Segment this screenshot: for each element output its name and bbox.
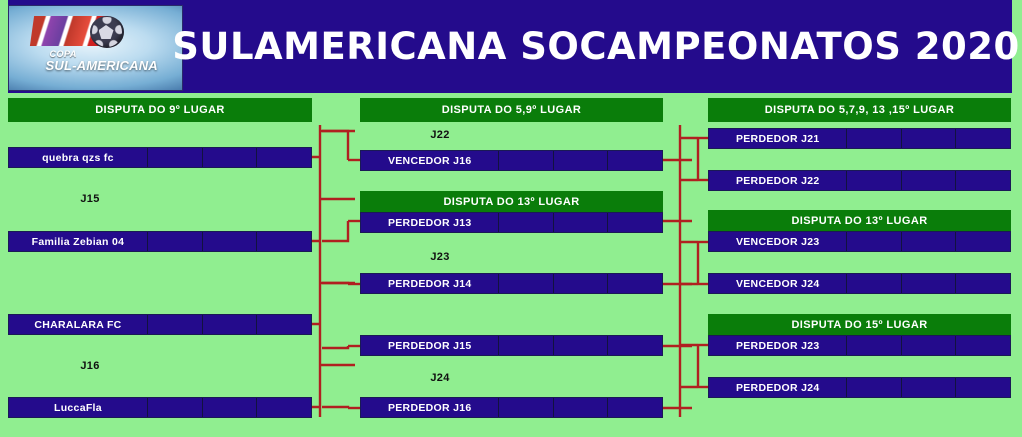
- slot-cell-1: [847, 232, 902, 251]
- soccer-ball-icon: [90, 16, 124, 48]
- slot-cell-2: [902, 378, 957, 397]
- slot-perdedor-j16[interactable]: PERDEDOR J16: [360, 397, 663, 418]
- section-header-13th-place-middle: DISPUTA DO 13º LUGAR: [360, 191, 663, 212]
- slot-label: LuccaFla: [9, 398, 148, 417]
- slot-charalara-fc[interactable]: CHARALARA FC: [8, 314, 312, 335]
- slot-cell-1: [499, 151, 554, 170]
- slot-quebra-qzs-fc[interactable]: quebra qzs fc: [8, 147, 312, 168]
- slot-perdedor-j23[interactable]: PERDEDOR J23: [708, 335, 1011, 356]
- slot-cell-1: [499, 213, 554, 232]
- slot-cell-2: [554, 151, 609, 170]
- slot-label: CHARALARA FC: [9, 315, 148, 334]
- slot-cell-2: [902, 171, 957, 190]
- slot-label: PERDEDOR J24: [709, 378, 847, 397]
- slot-cell-3: [257, 398, 311, 417]
- slot-cell-3: [257, 315, 311, 334]
- match-label-j22: J22: [390, 126, 490, 144]
- slot-cell-2: [203, 232, 258, 251]
- slot-cell-1: [847, 274, 902, 293]
- page-title: SULAMERICANA SOCAMPEONATOS 2020: [190, 0, 1002, 93]
- section-header-5-7-9-13-15th-place: DISPUTA DO 5,7,9, 13 ,15º LUGAR: [708, 98, 1011, 122]
- slot-cell-2: [203, 398, 258, 417]
- slot-cell-3: [956, 274, 1010, 293]
- section-header-13th-place-right: DISPUTA DO 13º LUGAR: [708, 210, 1011, 231]
- slot-cell-2: [554, 213, 609, 232]
- slot-vencedor-j23[interactable]: VENCEDOR J23: [708, 231, 1011, 252]
- section-header-15th-place-right: DISPUTA DO 15º LUGAR: [708, 314, 1011, 335]
- slot-perdedor-j21[interactable]: PERDEDOR J21: [708, 128, 1011, 149]
- slot-cell-2: [203, 148, 258, 167]
- slot-perdedor-j14[interactable]: PERDEDOR J14: [360, 273, 663, 294]
- match-label-j23: J23: [390, 248, 490, 266]
- slot-cell-3: [956, 378, 1010, 397]
- slot-label: VENCEDOR J16: [361, 151, 499, 170]
- slot-label: quebra qzs fc: [9, 148, 148, 167]
- slot-cell-1: [148, 232, 203, 251]
- copa-sul-americana-logo: COPA SUL-AMERICANA: [8, 5, 183, 91]
- slot-cell-3: [257, 232, 311, 251]
- slot-cell-1: [847, 336, 902, 355]
- slot-cell-3: [956, 129, 1010, 148]
- slot-cell-1: [148, 315, 203, 334]
- slot-label: PERDEDOR J23: [709, 336, 847, 355]
- match-label-j24: J24: [390, 369, 490, 387]
- slot-perdedor-j13[interactable]: PERDEDOR J13: [360, 212, 663, 233]
- slot-cell-3: [956, 171, 1010, 190]
- slot-label: PERDEDOR J21: [709, 129, 847, 148]
- slot-cell-1: [499, 274, 554, 293]
- slot-cell-1: [148, 398, 203, 417]
- slot-label: PERDEDOR J13: [361, 213, 499, 232]
- slot-cell-1: [847, 171, 902, 190]
- match-label-j16: J16: [40, 357, 140, 375]
- slot-cell-2: [554, 274, 609, 293]
- slot-cell-1: [148, 148, 203, 167]
- slot-perdedor-j15[interactable]: PERDEDOR J15: [360, 335, 663, 356]
- slot-cell-1: [499, 336, 554, 355]
- slot-cell-2: [902, 336, 957, 355]
- match-label-j15: J15: [40, 190, 140, 208]
- slot-label: PERDEDOR J22: [709, 171, 847, 190]
- slot-familia-zebian-04[interactable]: Familia Zebian 04: [8, 231, 312, 252]
- slot-cell-3: [956, 232, 1010, 251]
- slot-cell-3: [608, 151, 662, 170]
- slot-label: PERDEDOR J16: [361, 398, 499, 417]
- logo-graphic: COPA SUL-AMERICANA: [32, 16, 160, 70]
- section-header-9th-place: DISPUTA DO 9º LUGAR: [8, 98, 312, 122]
- slot-cell-3: [257, 148, 311, 167]
- slot-cell-3: [608, 398, 662, 417]
- slot-cell-2: [902, 232, 957, 251]
- slot-perdedor-j22[interactable]: PERDEDOR J22: [708, 170, 1011, 191]
- slot-cell-2: [902, 274, 957, 293]
- header-edge-left: [0, 0, 8, 93]
- slot-cell-1: [847, 129, 902, 148]
- slot-cell-1: [499, 398, 554, 417]
- slot-cell-3: [608, 274, 662, 293]
- slot-cell-3: [608, 336, 662, 355]
- slot-label: PERDEDOR J14: [361, 274, 499, 293]
- bracket-page: COPA SUL-AMERICANA SULAMERICANA SOCAMPEO…: [0, 0, 1022, 437]
- slot-cell-3: [956, 336, 1010, 355]
- slot-vencedor-j24[interactable]: VENCEDOR J24: [708, 273, 1011, 294]
- slot-cell-2: [902, 129, 957, 148]
- slot-label: VENCEDOR J24: [709, 274, 847, 293]
- slot-cell-3: [608, 213, 662, 232]
- slot-vencedor-j16[interactable]: VENCEDOR J16: [360, 150, 663, 171]
- slot-cell-2: [203, 315, 258, 334]
- slot-label: VENCEDOR J23: [709, 232, 847, 251]
- logo-text-sul-americana: SUL-AMERICANA: [46, 58, 158, 73]
- slot-perdedor-j24[interactable]: PERDEDOR J24: [708, 377, 1011, 398]
- slot-cell-2: [554, 398, 609, 417]
- slot-luccafla[interactable]: LuccaFla: [8, 397, 312, 418]
- slot-label: PERDEDOR J15: [361, 336, 499, 355]
- section-header-5-9th-place: DISPUTA DO 5,9º LUGAR: [360, 98, 663, 122]
- slot-cell-1: [847, 378, 902, 397]
- slot-label: Familia Zebian 04: [9, 232, 148, 251]
- slot-cell-2: [554, 336, 609, 355]
